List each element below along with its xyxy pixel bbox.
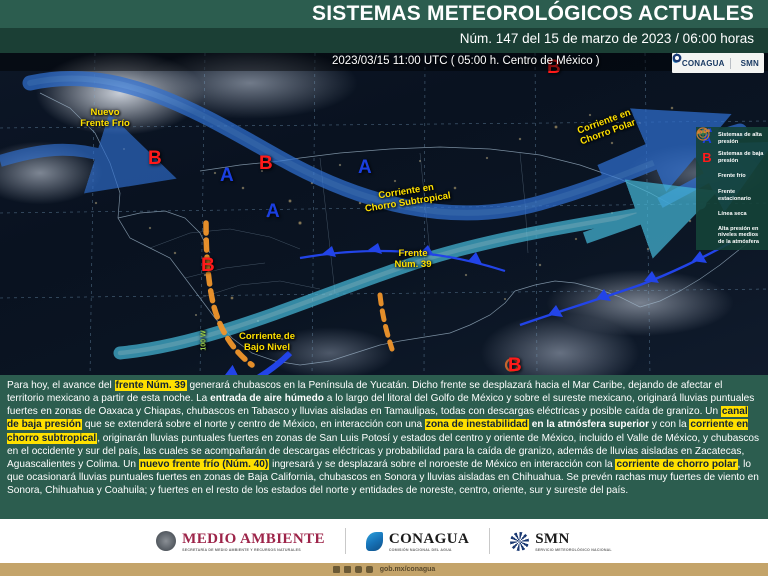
instagram-icon[interactable]: [355, 566, 362, 573]
low-pressure-marker-5: B: [508, 356, 522, 375]
footer-divider: [345, 528, 346, 554]
high-pressure-marker-1: A: [220, 166, 234, 185]
website-url[interactable]: gob.mx/conagua: [380, 566, 436, 573]
legend-label: Sistemas de alta presión: [718, 132, 765, 145]
smn-brand: SMN SERVICIO METEOROLÓGICO NACIONAL: [510, 530, 612, 552]
smn-name: SMN: [535, 531, 570, 547]
legend-item-mid-level-high: Alta presión en niveles medios de la atm…: [696, 224, 768, 247]
bulletin-number: Núm. 147 del 15 de marzo de 2023 / 06:00…: [460, 31, 754, 46]
polar-jet-branch: [0, 150, 108, 161]
legend-label: Alta presión en niveles medios de la atm…: [718, 226, 765, 245]
footer-logos: MEDIO AMBIENTE SECRETARÍA DE MEDIO AMBIE…: [0, 519, 768, 563]
youtube-icon[interactable]: [366, 566, 373, 573]
logo-divider: [730, 58, 731, 69]
dry-line-segment-2: [380, 295, 392, 349]
bulletin-paragraph: Para hoy, el avance del frente Núm. 39 g…: [7, 379, 761, 497]
label-frente-num-39: FrenteNúm. 39: [382, 248, 444, 270]
semarnat-subtitle: SECRETARÍA DE MEDIO AMBIENTE Y RECURSOS …: [182, 548, 325, 552]
smn-logo-text: SMN: [741, 59, 759, 68]
map-logo-strip: CONAGUA SMN: [672, 53, 764, 73]
conagua-name: CONAGUA: [389, 531, 469, 547]
twitter-icon[interactable]: [344, 566, 351, 573]
legend-label: Sistemas de baja presión: [718, 151, 765, 164]
coastline-layer: [40, 93, 760, 365]
legend-label: Frente frío: [718, 173, 746, 179]
label-corriente-bajo-nivel: Corriente deBajo Nivel: [222, 331, 312, 353]
conagua-logo-text: CONAGUA: [682, 59, 725, 68]
conagua-brand: CONAGUA COMISIÓN NACIONAL DEL AGUA: [366, 530, 469, 552]
semarnat-name: MEDIO AMBIENTE: [182, 531, 325, 547]
low-pressure-marker-2: B: [259, 154, 273, 173]
conagua-wave-icon: [366, 532, 383, 551]
label-nuevo-frente-frio: NuevoFrente Frío: [62, 107, 148, 129]
facebook-icon[interactable]: [333, 566, 340, 573]
legend-item-low-pressure: B Sistemas de baja presión: [696, 148, 768, 167]
map-timestamp: 2023/03/15 11:00 UTC ( 05:00 h. Centro d…: [332, 55, 600, 67]
mexican-eagle-icon: [156, 531, 176, 551]
conagua-subtitle: COMISIÓN NACIONAL DEL AGUA: [389, 548, 469, 552]
high-pressure-marker-3: A: [266, 202, 280, 221]
low-pressure-marker-1: B: [148, 149, 162, 168]
legend-item-dry-line: Línea seca: [696, 205, 768, 224]
smn-subtitle: SERVICIO METEOROLÓGICO NACIONAL: [535, 548, 612, 552]
legend-label: Línea seca: [718, 211, 747, 217]
letter-b-icon: B: [699, 151, 715, 164]
smn-circle-icon: [510, 532, 529, 551]
low-pressure-marker-3: B: [201, 256, 215, 275]
page-title: SISTEMAS METEOROLÓGICOS ACTUALES: [312, 2, 754, 26]
map-overlay-graphics: [0, 53, 768, 375]
label-meridian-100w: 100 W: [199, 330, 210, 350]
footer-divider: [489, 528, 490, 554]
legend-label: Frente estacionario: [718, 189, 765, 202]
map-legend: A Sistemas de alta presión B Sistemas de…: [696, 127, 768, 250]
bulletin-text-panel: Para hoy, el avance del frente Núm. 39 g…: [0, 375, 768, 519]
weather-bulletin-page: SISTEMAS METEOROLÓGICOS ACTUALES Núm. 14…: [0, 0, 768, 576]
semarnat-brand: MEDIO AMBIENTE SECRETARÍA DE MEDIO AMBIE…: [156, 530, 325, 552]
high-pressure-marker-2: A: [358, 158, 372, 177]
social-bar: gob.mx/conagua: [0, 563, 768, 576]
cold-front-40: [520, 243, 730, 325]
satellite-weather-map[interactable]: B A B A A B B B NuevoFrente Frío Corrien…: [0, 53, 768, 375]
legend-item-cold-front: Frente frío: [696, 167, 768, 186]
legend-item-stationary-front: Frente estacionario: [696, 186, 768, 205]
